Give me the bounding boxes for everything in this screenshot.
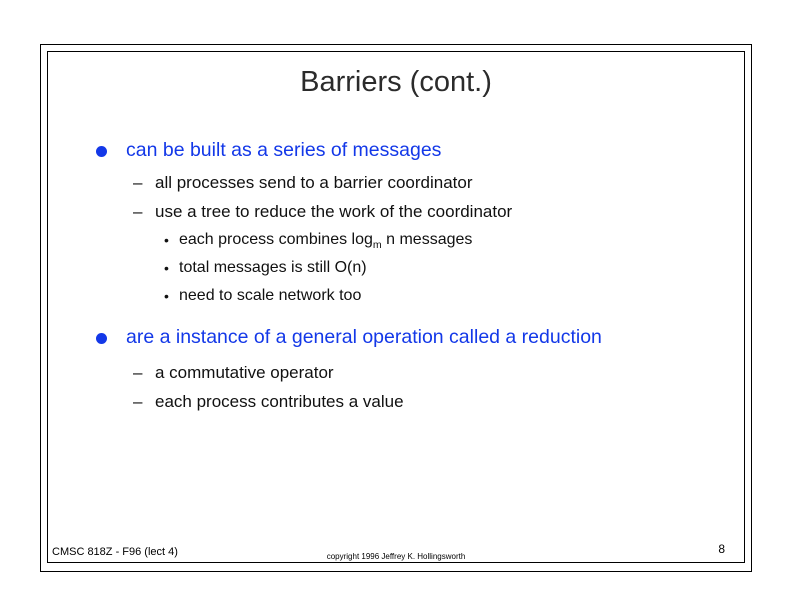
dash-bullet-icon: – xyxy=(47,390,155,413)
bullet-level2-commutative-operator: – a commutative operator xyxy=(47,361,745,384)
bullet-level2-label: a commutative operator xyxy=(155,361,745,384)
slide-body: can be built as a series of messages – a… xyxy=(47,138,745,419)
bullet-level2-contributes-a-value: – each process contributes a value xyxy=(47,390,745,413)
page-number: 8 xyxy=(47,542,725,556)
bullet-level1-are-a-instance: are a instance of a general operation ca… xyxy=(47,325,745,350)
bullet-level3-label: each process combines logm n messages xyxy=(179,229,745,251)
dot-bullet-icon: • xyxy=(47,229,179,251)
bullet-level3-label: total messages is still O(n) xyxy=(179,257,745,279)
bullet-level2-all-processes: – all processes send to a barrier coordi… xyxy=(47,171,745,194)
bullet-level3-label: need to scale network too xyxy=(179,285,745,307)
bullet-level1-can-be-built: can be built as a series of messages xyxy=(47,138,745,163)
dot-bullet-icon: • xyxy=(47,285,179,307)
bullet-level1-label: are a instance of a general operation ca… xyxy=(126,325,626,350)
dash-bullet-icon: – xyxy=(47,361,155,384)
bullet-level2-label: all processes send to a barrier coordina… xyxy=(155,171,745,194)
page-title: Barriers (cont.) xyxy=(47,66,745,99)
bullet-level2-use-a-tree: – use a tree to reduce the work of the c… xyxy=(47,200,745,223)
bullet-level2-label: each process contributes a value xyxy=(155,390,745,413)
log-base-subscript: m xyxy=(373,239,382,251)
bullet-level1-label: can be built as a series of messages xyxy=(126,138,626,163)
dash-bullet-icon: – xyxy=(47,200,155,223)
log-text-pre: each process combines log xyxy=(179,231,373,248)
dash-bullet-icon: – xyxy=(47,171,155,194)
bullet-level3-need-to-scale: • need to scale network too xyxy=(47,285,745,307)
bullet-level2-label: use a tree to reduce the work of the coo… xyxy=(155,200,745,223)
log-text-post: n messages xyxy=(382,231,473,248)
slide-canvas: Barriers (cont.) can be built as a serie… xyxy=(0,0,792,612)
bullet-level3-total-messages: • total messages is still O(n) xyxy=(47,257,745,279)
bullet-level3-each-process-combines: • each process combines logm n messages xyxy=(47,229,745,251)
dot-bullet-icon: • xyxy=(47,257,179,279)
